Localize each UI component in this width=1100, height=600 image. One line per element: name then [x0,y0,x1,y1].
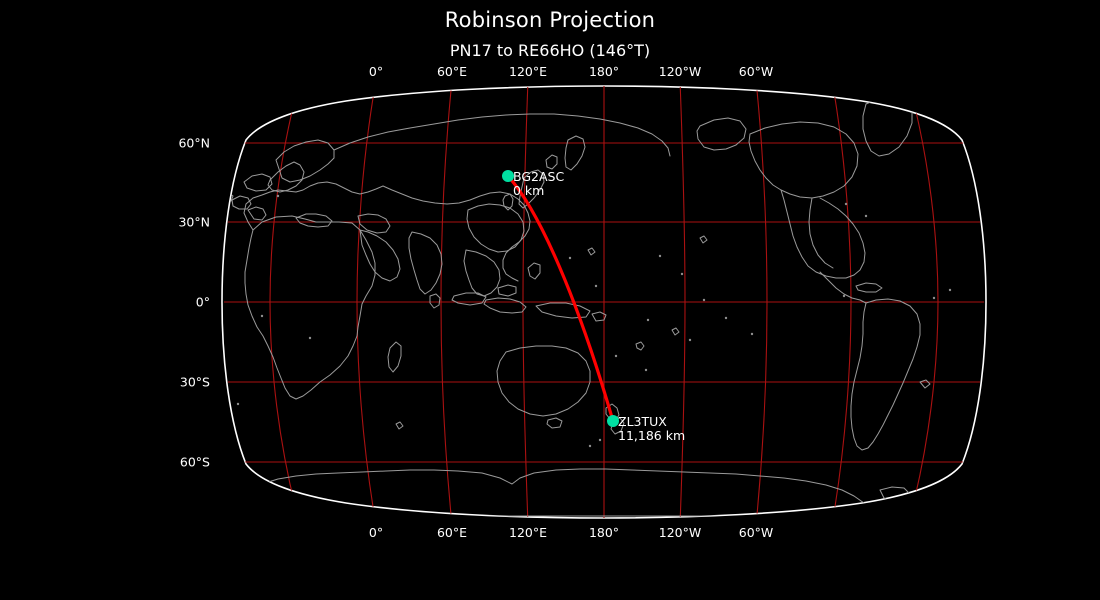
marker-origin-distance: 0 km [513,184,564,198]
map-canvas [0,0,1100,600]
marker-origin-label-group: BG2ASC 0 km [513,170,564,198]
map-figure: Robinson Projection PN17 to RE66HO (146°… [0,0,1100,600]
marker-destination-distance: 11,186 km [618,429,685,443]
marker-destination-label-group: ZL3TUX 11,186 km [618,415,685,443]
marker-destination-callsign: ZL3TUX [618,415,685,429]
marker-origin-callsign: BG2ASC [513,170,564,184]
